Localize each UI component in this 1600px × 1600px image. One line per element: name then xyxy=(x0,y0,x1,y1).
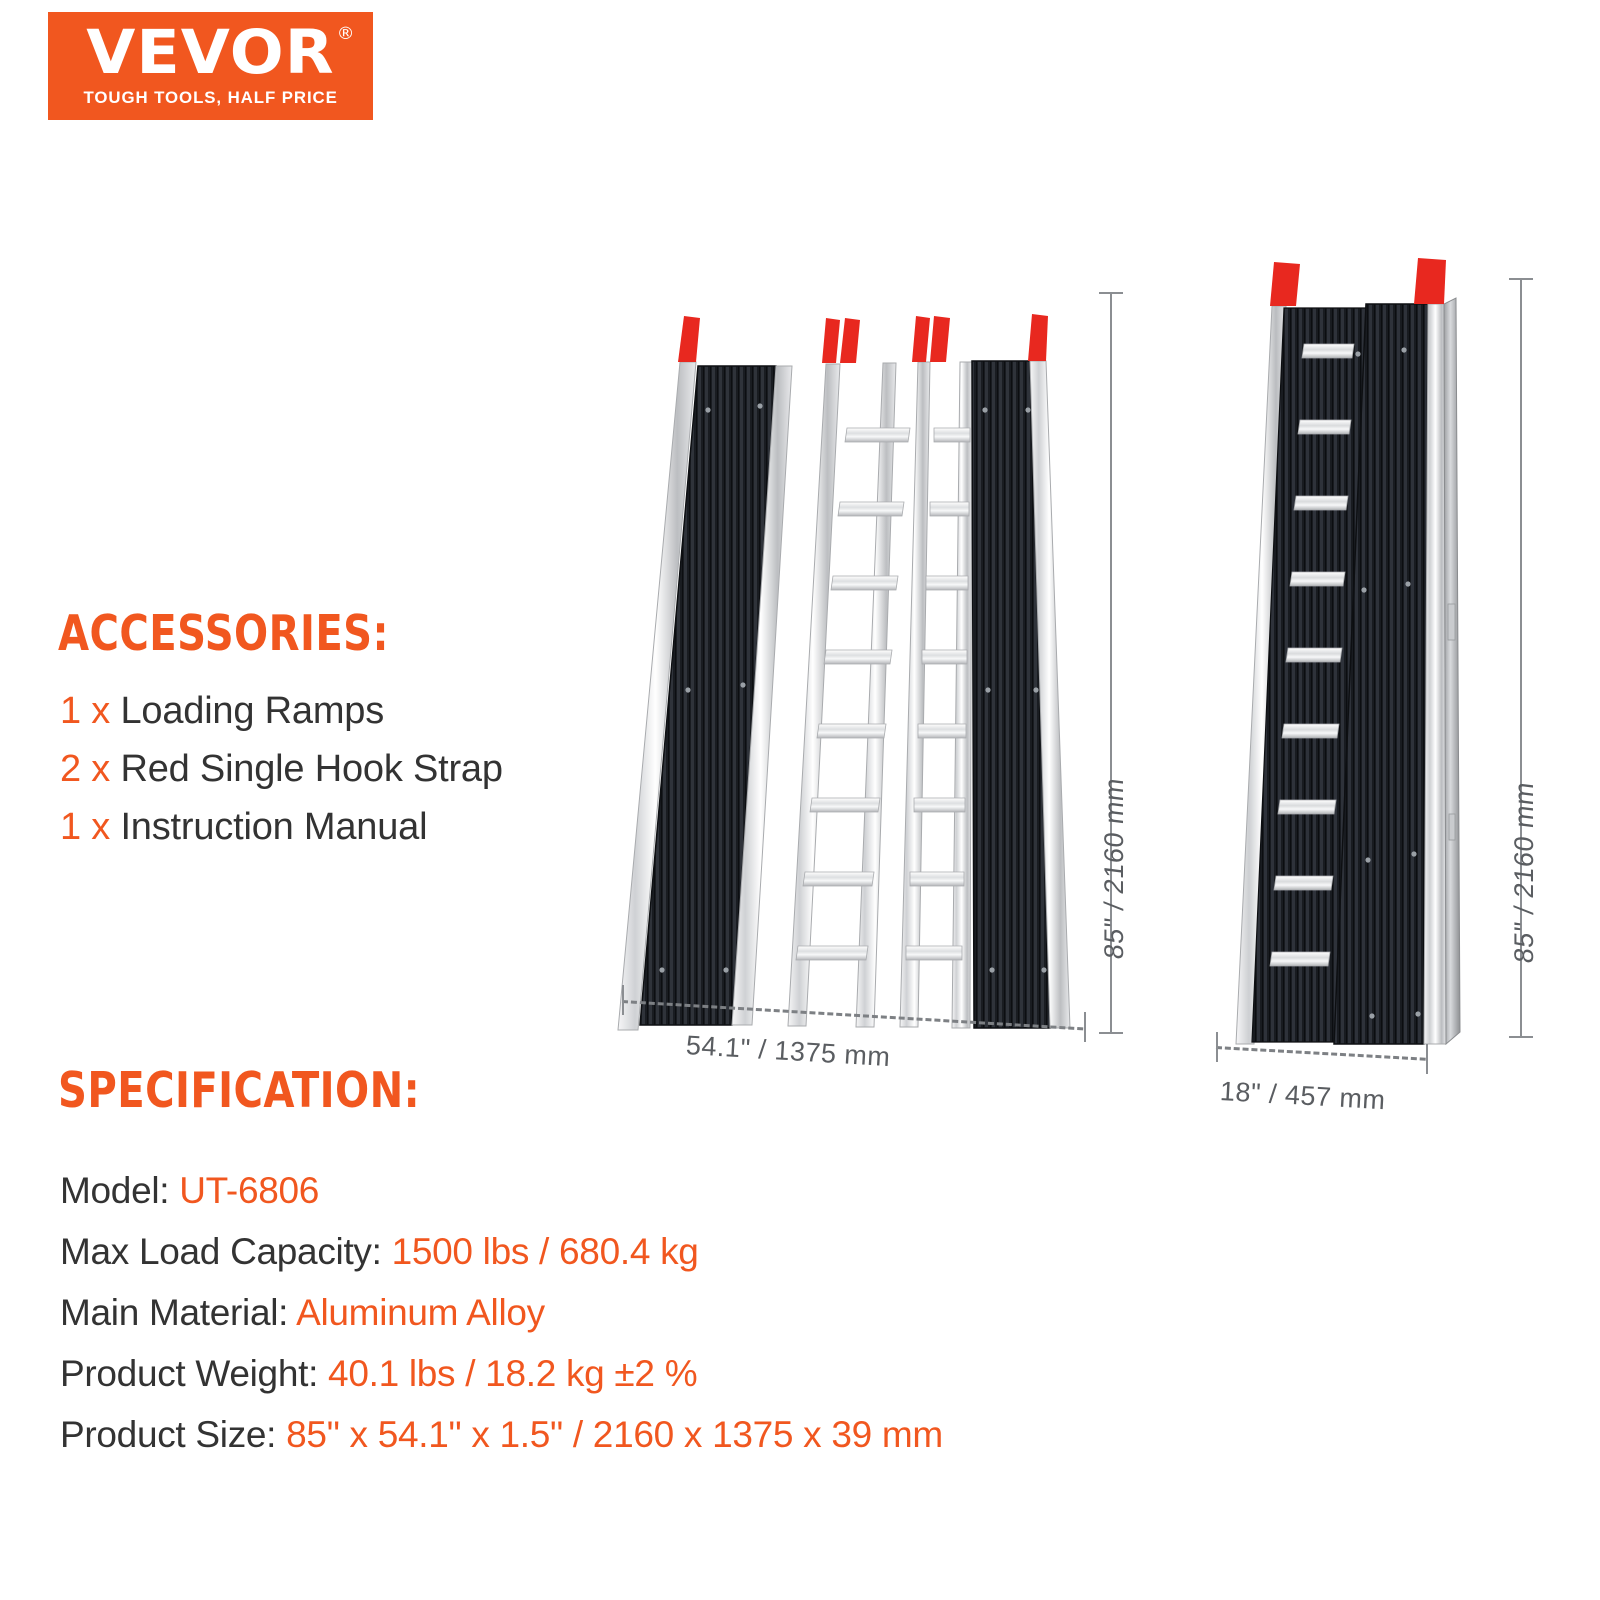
accessory-qty: 1 x xyxy=(60,806,110,848)
ramp-unfolded-svg xyxy=(600,270,1120,1060)
accessories-heading: ACCESSORIES: xyxy=(58,605,389,662)
dimension-tick-left-folded xyxy=(1216,1032,1218,1062)
spec-label: Max Load Capacity: xyxy=(60,1231,382,1272)
spec-row-main-material: Main Material: Aluminum Alloy xyxy=(60,1282,1220,1343)
spec-label: Product Size: xyxy=(60,1414,276,1455)
hook-tab-group-folded xyxy=(1270,258,1446,306)
registered-mark-icon: ® xyxy=(337,26,356,42)
dimension-label-width-folded: 18" / 457 mm xyxy=(1219,1076,1386,1116)
dimension-label-height-unfolded: 85" / 2160 mm xyxy=(1099,776,1130,961)
accessory-name: Loading Ramps xyxy=(120,690,384,732)
dimension-tick-right-folded xyxy=(1426,1044,1428,1074)
spec-row-product-size: Product Size: 85" x 54.1" x 1.5" / 2160 … xyxy=(60,1404,1220,1465)
accessory-name: Instruction Manual xyxy=(120,806,427,848)
ramp-folded-illustration xyxy=(1208,254,1508,1064)
vevor-logo: VEVOR® TOUGH TOOLS, HALF PRICE xyxy=(48,12,373,120)
spec-value: UT-6806 xyxy=(179,1170,319,1211)
dimension-label-height-folded: 85" / 2160 mm xyxy=(1509,780,1540,965)
product-image-area: 85" / 2160 mm 54.1" / 1375 mm xyxy=(590,240,1600,1160)
spec-label: Model: xyxy=(60,1170,169,1211)
brand-tagline: TOUGH TOOLS, HALF PRICE xyxy=(83,89,337,108)
spec-value: 40.1 lbs / 18.2 kg ±2 % xyxy=(328,1353,697,1394)
ramp-unfolded-illustration xyxy=(600,270,1120,1030)
spec-value: 85" x 54.1" x 1.5" / 2160 x 1375 x 39 mm xyxy=(286,1414,943,1455)
dimension-tick-right-unfolded xyxy=(1084,1012,1086,1042)
spec-value: Aluminum Alloy xyxy=(296,1292,545,1333)
spec-row-model: Model: UT-6806 xyxy=(60,1160,1220,1221)
spec-row-max-load-capacity: Max Load Capacity: 1500 lbs / 680.4 kg xyxy=(60,1221,1220,1282)
ramp-folded-svg xyxy=(1208,254,1508,1074)
spec-value: 1500 lbs / 680.4 kg xyxy=(392,1231,699,1272)
hook-tab-group xyxy=(678,314,1048,363)
brand-name: VEVOR xyxy=(86,17,334,88)
accessory-qty: 1 x xyxy=(60,690,110,732)
accessory-name: Red Single Hook Strap xyxy=(120,748,502,790)
brand-wordmark: VEVOR® xyxy=(86,24,334,82)
spec-label: Product Weight: xyxy=(60,1353,318,1394)
specification-heading: SPECIFICATION: xyxy=(58,1062,420,1119)
dimension-tick-left-unfolded xyxy=(622,985,624,1015)
accessory-qty: 2 x xyxy=(60,748,110,790)
spec-label: Main Material: xyxy=(60,1292,288,1333)
specification-list: Model: UT-6806 Max Load Capacity: 1500 l… xyxy=(60,1160,1220,1465)
spec-row-product-weight: Product Weight: 40.1 lbs / 18.2 kg ±2 % xyxy=(60,1343,1220,1404)
